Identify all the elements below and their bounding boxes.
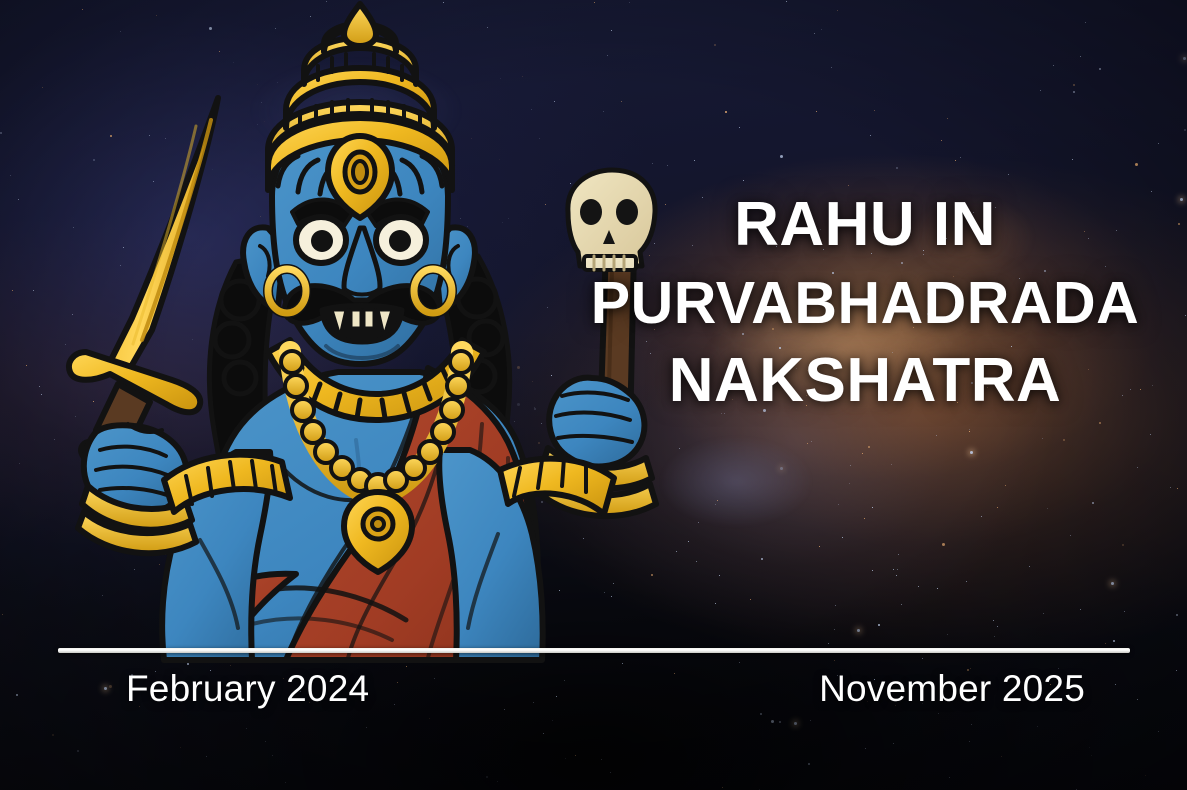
golden-sword: [69, 98, 218, 474]
timeline-start-date: February 2024: [126, 668, 369, 710]
timeline-rule: [58, 648, 1130, 653]
title-line-3: NAKSHATRA: [585, 342, 1145, 420]
poster-canvas: RAHU IN PURVABHADRADA NAKSHATRA February…: [0, 0, 1187, 790]
timeline-end-date: November 2025: [819, 668, 1085, 710]
poster-title: RAHU IN PURVABHADRADA NAKSHATRA: [585, 186, 1145, 420]
title-line-1: RAHU IN: [585, 186, 1145, 264]
title-line-2: PURVABHADRADA: [585, 264, 1145, 342]
crown-finial: [344, 4, 376, 46]
